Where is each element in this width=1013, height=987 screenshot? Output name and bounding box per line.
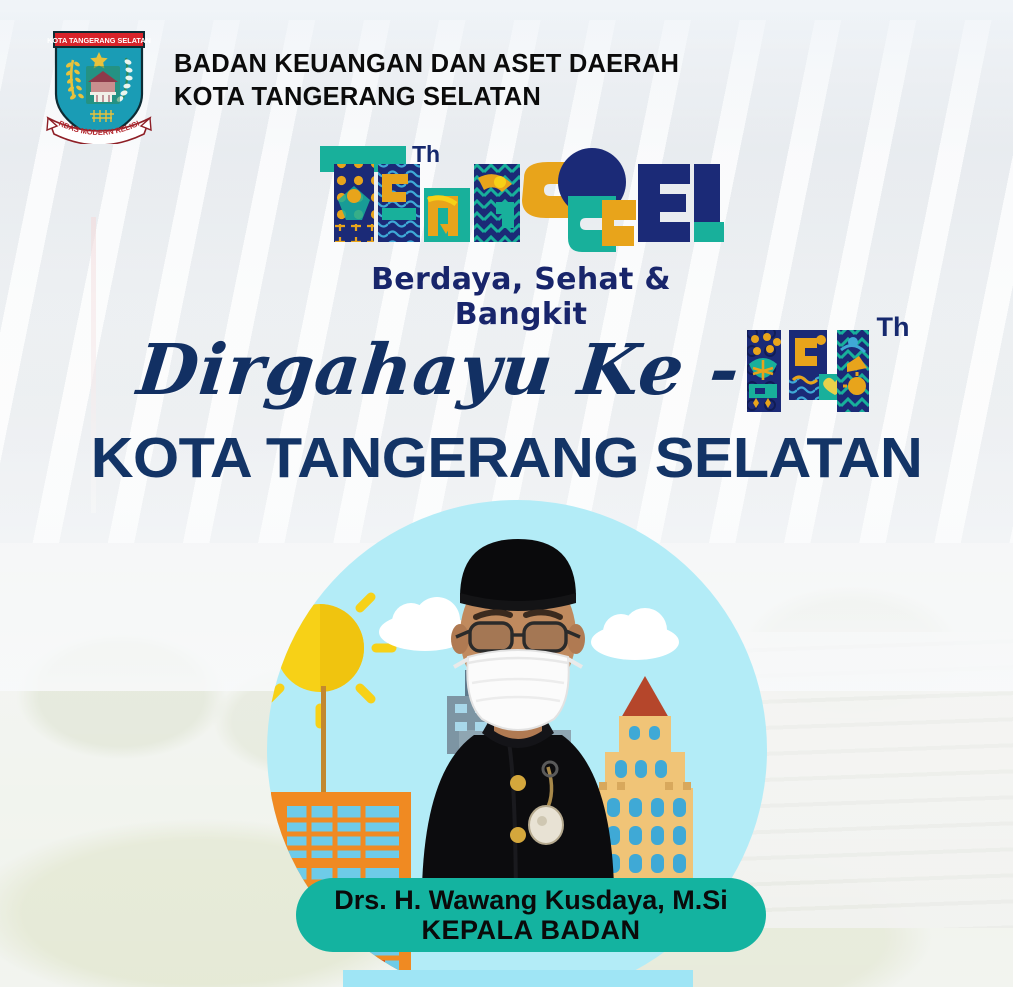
header: KOTA TANGERANG SELATAN bbox=[44, 22, 679, 144]
header-line-1: BADAN KEUANGAN DAN ASET DAERAH bbox=[174, 48, 679, 81]
logo-letter-E bbox=[638, 164, 690, 242]
dirgahayu-script-text: Dirgahayu Ke - bbox=[133, 328, 744, 411]
peci-cap-icon bbox=[460, 539, 576, 604]
anniversary-superscript: Th bbox=[876, 312, 909, 343]
face-mask-icon bbox=[467, 650, 568, 730]
header-line-2: KOTA TANGERANG SELATAN bbox=[174, 81, 679, 114]
jacket-button bbox=[510, 775, 526, 791]
emblem-banner-text: KOTA TANGERANG SELATAN bbox=[47, 36, 151, 45]
navy-office-left bbox=[225, 902, 299, 980]
tangsel-logo: Th Berdaya, Sehat & Bangkit bbox=[316, 138, 726, 258]
logo-letter-S2 bbox=[602, 200, 636, 246]
scene-base bbox=[343, 970, 693, 987]
header-title: BADAN KEUANGAN DAN ASET DAERAH KOTA TANG… bbox=[174, 22, 679, 113]
city-emblem: KOTA TANGERANG SELATAN bbox=[44, 22, 154, 144]
logo-superscript-th: Th bbox=[412, 141, 440, 167]
anniversary-headline: Dirgahayu Ke - bbox=[0, 324, 1013, 414]
light-blue-slab bbox=[233, 848, 277, 976]
official-name: Drs. H. Wawang Kusdaya, M.Si bbox=[334, 885, 728, 915]
jacket-button bbox=[510, 827, 526, 843]
logo-letter-L-foot bbox=[694, 222, 724, 242]
anniversary-number-14: Th bbox=[743, 324, 875, 414]
antenna-mast bbox=[321, 686, 326, 808]
logo-tagline: Berdaya, Sehat & Bangkit bbox=[316, 262, 726, 332]
name-banner: Drs. H. Wawang Kusdaya, M.Si KEPALA BADA… bbox=[296, 878, 766, 952]
logo-letter-L-stem bbox=[694, 164, 720, 222]
official-position: KEPALA BADAN bbox=[422, 915, 641, 945]
kepala-badan-portrait bbox=[398, 505, 638, 925]
city-headline: KOTA TANGERANG SELATAN bbox=[0, 425, 1013, 491]
